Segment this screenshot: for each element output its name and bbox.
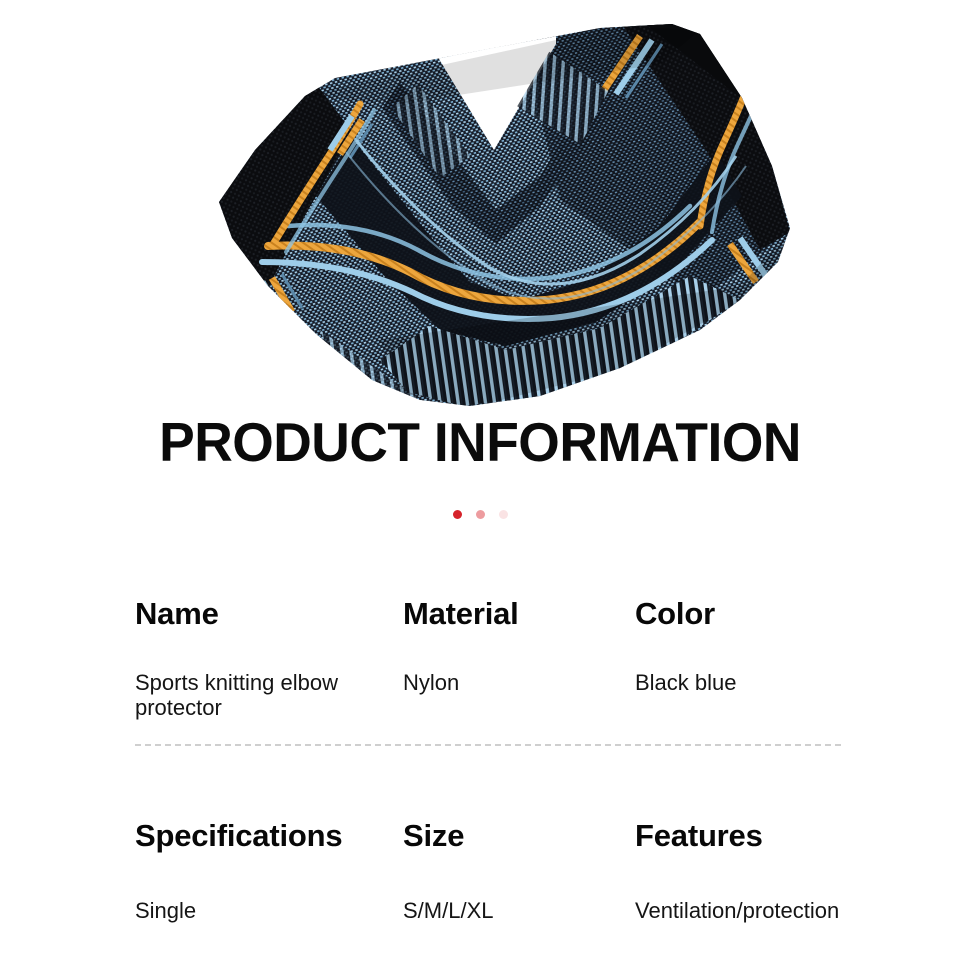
spec-cell-color: Color Black blue bbox=[635, 596, 855, 720]
spec-row: Specifications Single Size S/M/L/XL Feat… bbox=[135, 818, 855, 923]
spec-cell-material: Material Nylon bbox=[403, 596, 635, 720]
spec-row: Name Sports knitting elbow protector Mat… bbox=[135, 596, 855, 720]
carousel-dots[interactable] bbox=[0, 510, 960, 519]
carousel-dot-3[interactable] bbox=[499, 510, 508, 519]
spec-value-name: Sports knitting elbow protector bbox=[135, 670, 375, 720]
spec-table-row-1: Name Sports knitting elbow protector Mat… bbox=[135, 596, 855, 720]
spec-header-specifications: Specifications bbox=[135, 818, 385, 854]
carousel-dot-1[interactable] bbox=[453, 510, 462, 519]
product-information-page: PRODUCT INFORMATION Name Sports knitting… bbox=[0, 0, 960, 960]
elbow-sleeve-illustration bbox=[0, 0, 960, 410]
product-image[interactable] bbox=[0, 0, 960, 410]
spec-cell-size: Size S/M/L/XL bbox=[403, 818, 635, 923]
spec-header-features: Features bbox=[635, 818, 837, 854]
spec-value-specifications: Single bbox=[135, 898, 385, 923]
spec-table-row-2: Specifications Single Size S/M/L/XL Feat… bbox=[135, 818, 855, 923]
spec-cell-features: Features Ventilation/protection bbox=[635, 818, 855, 923]
page-title: PRODUCT INFORMATION bbox=[14, 412, 945, 472]
carousel-dot-2[interactable] bbox=[476, 510, 485, 519]
spec-header-name: Name bbox=[135, 596, 385, 632]
spec-value-color: Black blue bbox=[635, 670, 837, 695]
spec-header-color: Color bbox=[635, 596, 837, 632]
section-divider bbox=[135, 744, 841, 746]
spec-value-size: S/M/L/XL bbox=[403, 898, 617, 923]
spec-header-material: Material bbox=[403, 596, 617, 632]
spec-header-size: Size bbox=[403, 818, 617, 854]
spec-cell-name: Name Sports knitting elbow protector bbox=[135, 596, 403, 720]
spec-cell-specifications: Specifications Single bbox=[135, 818, 403, 923]
spec-value-material: Nylon bbox=[403, 670, 617, 695]
spec-value-features: Ventilation/protection bbox=[635, 898, 837, 923]
